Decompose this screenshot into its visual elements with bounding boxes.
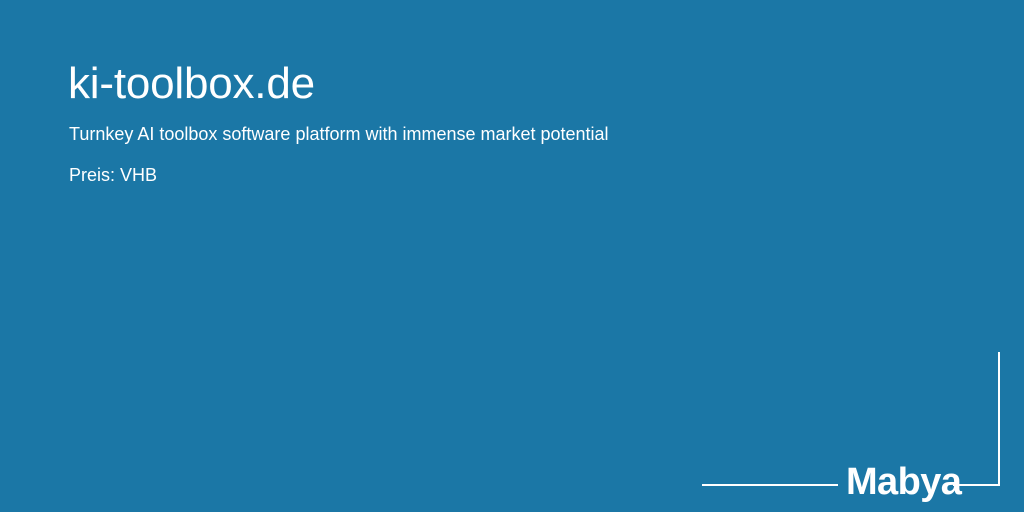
listing-price: Preis: VHB (69, 163, 157, 187)
brand-rule-vertical (998, 352, 1000, 486)
listing-subtitle: Turnkey AI toolbox software platform wit… (69, 122, 609, 146)
page-title: ki-toolbox.de (68, 58, 315, 110)
listing-slide: ki-toolbox.de Turnkey AI toolbox softwar… (0, 0, 1024, 512)
brand-wordmark: Mabya (846, 462, 961, 502)
brand-rule-right (953, 484, 1000, 486)
brand-rule-left (702, 484, 838, 486)
